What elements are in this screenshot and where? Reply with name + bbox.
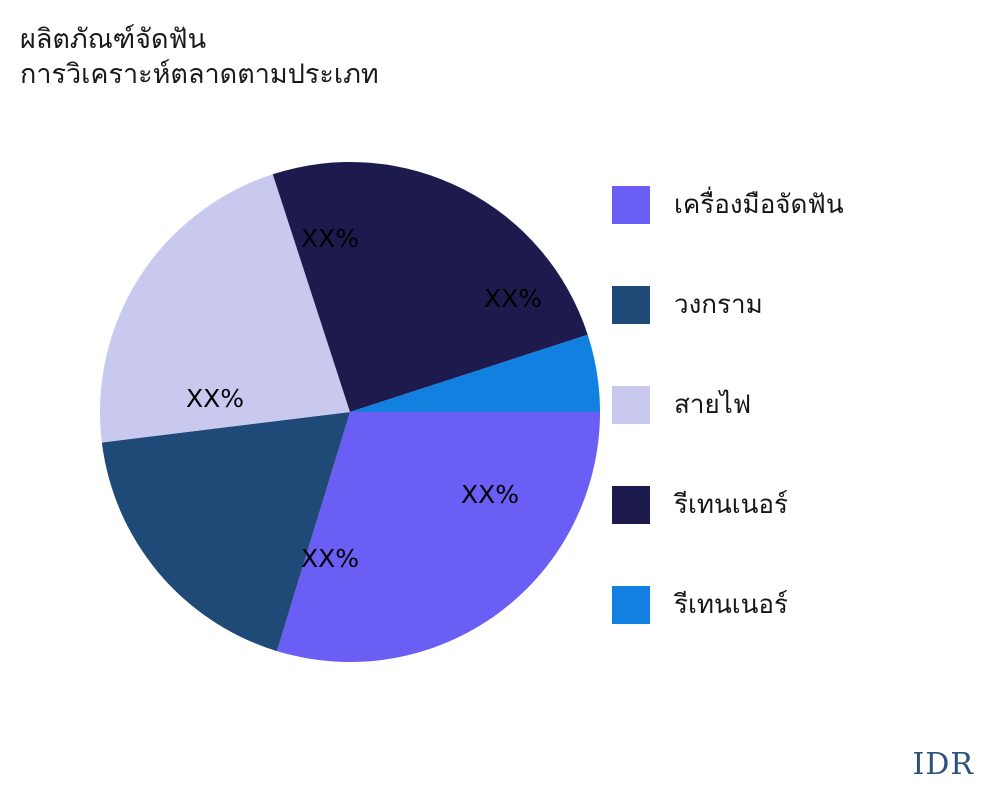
- legend-color-swatch: [612, 486, 650, 524]
- pie-slice-label: XX%: [461, 480, 519, 509]
- legend-item[interactable]: รีเทนเนอร์: [612, 455, 992, 555]
- legend-item-label: สายไฟ: [674, 389, 751, 421]
- pie-slice-label: XX%: [301, 544, 359, 573]
- legend-color-swatch: [612, 386, 650, 424]
- legend-item[interactable]: วงกราม: [612, 255, 992, 355]
- legend-color-swatch: [612, 286, 650, 324]
- legend-color-swatch: [612, 186, 650, 224]
- legend-color-swatch: [612, 586, 650, 624]
- legend-item-label: เครื่องมือจัดฟัน: [674, 189, 844, 221]
- chart-legend: เครื่องมือจัดฟันวงกรามสายไฟรีเทนเนอร์รีเ…: [612, 155, 992, 655]
- legend-item-label: วงกราม: [674, 289, 763, 321]
- pie-chart-svg: XX%XX%XX%XX%XX%: [0, 0, 620, 800]
- pie-slice-label: XX%: [186, 384, 244, 413]
- pie-slice-label: XX%: [484, 284, 542, 313]
- legend-item[interactable]: สายไฟ: [612, 355, 992, 455]
- legend-item-label: รีเทนเนอร์: [674, 589, 788, 621]
- watermark-idr: IDR: [913, 747, 975, 782]
- pie-slice-label: XX%: [301, 224, 359, 253]
- legend-item[interactable]: รีเทนเนอร์: [612, 555, 992, 655]
- legend-item[interactable]: เครื่องมือจัดฟัน: [612, 155, 992, 255]
- legend-item-label: รีเทนเนอร์: [674, 489, 788, 521]
- pie-chart-area: XX%XX%XX%XX%XX%: [0, 0, 620, 800]
